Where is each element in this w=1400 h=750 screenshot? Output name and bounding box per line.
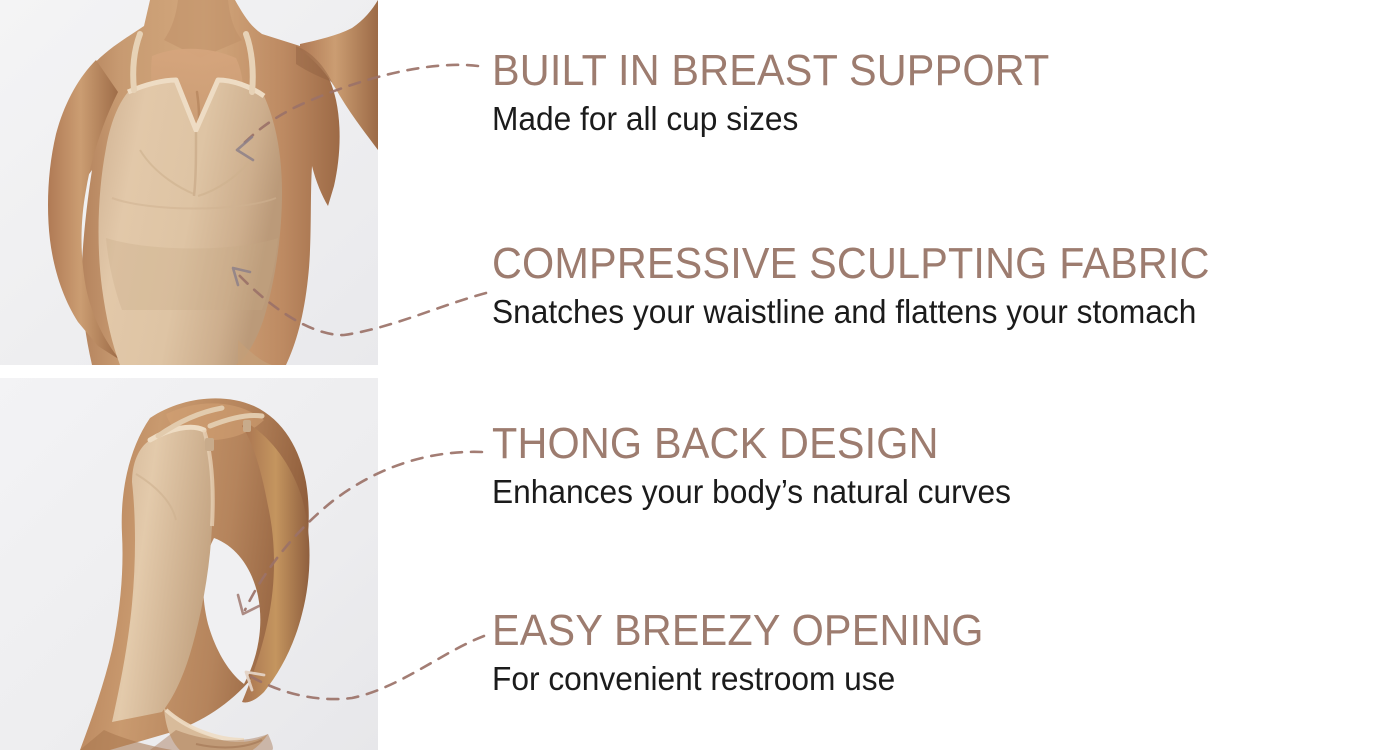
front-view-illustration <box>0 0 378 365</box>
feature-block-thong-back-design: THONG BACK DESIGN Enhances your body’s n… <box>492 419 1033 512</box>
product-photo-column <box>0 0 378 750</box>
feature-subtitle: Enhances your body’s natural curves <box>492 472 1011 512</box>
feature-title: COMPRESSIVE SCULPTING FABRIC <box>492 239 1210 289</box>
feature-subtitle: For convenient restroom use <box>492 659 994 699</box>
feature-text-column: BUILT IN BREAST SUPPORT Made for all cup… <box>378 0 1400 750</box>
feature-block-built-in-breast-support: BUILT IN BREAST SUPPORT Made for all cup… <box>492 46 1085 139</box>
feature-title: EASY BREEZY OPENING <box>492 606 984 656</box>
feature-block-compressive-sculpting-fabric: COMPRESSIVE SCULPTING FABRIC Snatches yo… <box>492 239 1256 332</box>
product-photo-front-view <box>0 0 378 365</box>
product-feature-infographic: BUILT IN BREAST SUPPORT Made for all cup… <box>0 0 1400 750</box>
feature-subtitle: Snatches your waistline and flattens you… <box>492 292 1225 332</box>
back-view-illustration <box>0 378 378 750</box>
feature-title: THONG BACK DESIGN <box>492 419 1000 469</box>
product-photo-back-view <box>0 378 378 750</box>
feature-title: BUILT IN BREAST SUPPORT <box>492 46 1049 96</box>
feature-subtitle: Made for all cup sizes <box>492 99 1061 139</box>
feature-block-easy-breezy-opening: EASY BREEZY OPENING For convenient restr… <box>492 606 1015 699</box>
